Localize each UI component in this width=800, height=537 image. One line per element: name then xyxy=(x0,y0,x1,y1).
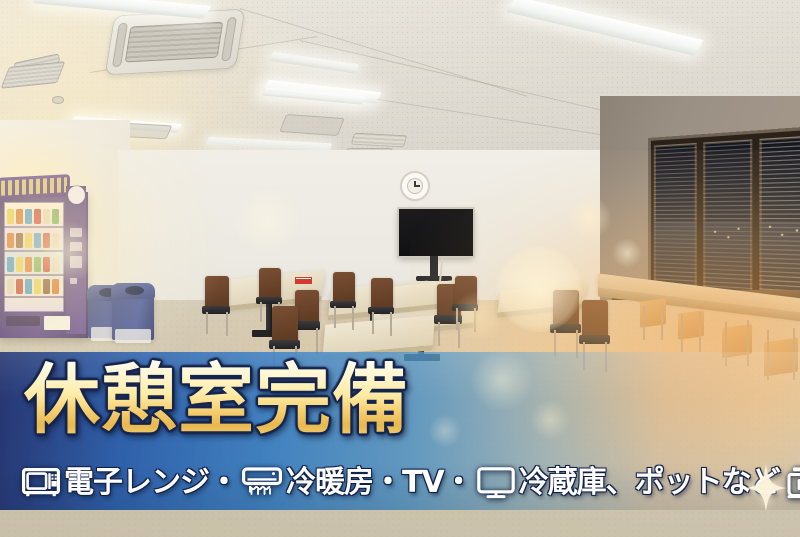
chair-back xyxy=(582,300,608,336)
ceiling-smoke-detector xyxy=(52,96,64,104)
dining-chair xyxy=(455,276,477,322)
drink-item xyxy=(16,279,23,294)
vending-machine-header-sign xyxy=(0,174,70,200)
wall-clock xyxy=(402,173,428,199)
chair-leg xyxy=(206,312,208,334)
vending-shelf xyxy=(4,274,64,276)
vending-shelf xyxy=(4,226,64,228)
dining-chair xyxy=(333,272,355,320)
dining-chair xyxy=(371,278,393,326)
vending-machine-label xyxy=(44,316,70,330)
drink-item xyxy=(7,279,14,294)
coin-slot xyxy=(70,278,77,284)
stool-leg xyxy=(699,312,701,352)
drink-item xyxy=(25,279,32,294)
trash-bin-opening xyxy=(125,286,144,295)
air-conditioner-icon xyxy=(242,467,282,499)
electric-kettle-icon xyxy=(784,466,800,500)
stool-leg xyxy=(661,304,663,340)
drink-item xyxy=(7,209,14,224)
sparkle-icon xyxy=(746,464,786,510)
chair-back xyxy=(553,290,579,325)
trash-bin-liner xyxy=(115,329,151,343)
ceiling-ac-cassette xyxy=(105,9,246,76)
dining-chair xyxy=(205,276,229,326)
window-pane xyxy=(654,143,697,293)
drink-item xyxy=(52,233,59,248)
wall-mounted-tv xyxy=(399,209,473,256)
amenity-fridge-pot-label: 冷蔵庫、ポットなど xyxy=(519,466,780,500)
drink-item xyxy=(25,257,32,272)
chair-back xyxy=(295,290,319,322)
stool-leg xyxy=(643,306,645,340)
chair-back xyxy=(205,276,229,307)
clock-hand-minute xyxy=(414,185,420,187)
dining-chair xyxy=(553,290,579,346)
vending-shelf xyxy=(4,296,64,298)
chair-leg xyxy=(334,306,336,328)
chair-leg xyxy=(316,328,318,354)
chair-back xyxy=(259,268,281,298)
drink-item xyxy=(43,279,50,294)
stool-leg xyxy=(681,314,683,352)
tv-stand-neck xyxy=(430,256,438,278)
window-pane xyxy=(703,139,752,296)
chair-back xyxy=(333,272,355,302)
banner-subtitle: 電子レンジ・ 冷暖房・TV・ xyxy=(22,462,792,504)
vending-machine xyxy=(0,192,88,338)
chair-leg xyxy=(260,302,262,322)
television-icon xyxy=(477,467,515,499)
drink-item xyxy=(7,233,14,248)
city-view xyxy=(703,221,752,275)
drink-item xyxy=(25,233,32,248)
ac-cassette-vent xyxy=(221,17,237,61)
microwave-icon xyxy=(22,468,60,498)
drink-item xyxy=(25,209,32,224)
drink-item xyxy=(34,279,41,294)
chair-back xyxy=(371,278,393,308)
vending-machine-display xyxy=(4,202,64,312)
screenshot-root: 休憩室完備 電子レンジ・ xyxy=(0,0,800,537)
chair-leg xyxy=(438,322,440,346)
chair-leg xyxy=(390,312,392,336)
chair-leg xyxy=(458,322,460,348)
drink-item xyxy=(43,257,50,272)
drink-item xyxy=(34,257,41,272)
chair-leg xyxy=(372,312,374,334)
promo-banner: 休憩室完備 電子レンジ・ xyxy=(0,352,800,510)
amenity-microwave-label: 電子レンジ・ xyxy=(64,466,238,500)
chair-back xyxy=(455,276,477,305)
vending-machine-button xyxy=(70,242,82,251)
city-light xyxy=(737,227,739,229)
dining-chair xyxy=(295,290,319,342)
vending-shelf xyxy=(4,250,64,252)
vending-machine-pickup-tray xyxy=(6,316,40,326)
drink-item xyxy=(16,209,23,224)
drink-item xyxy=(16,257,23,272)
city-view xyxy=(654,221,697,272)
drink-item xyxy=(43,209,50,224)
chair-leg xyxy=(456,308,458,330)
table-sign xyxy=(295,277,312,284)
trash-bin xyxy=(112,290,154,340)
drink-item xyxy=(34,209,41,224)
chair-leg xyxy=(474,308,476,332)
ac-cassette-grille xyxy=(125,22,224,63)
amenity-aircon-tv-label: 冷暖房・TV・ xyxy=(286,466,473,500)
dining-chair xyxy=(582,300,608,358)
drink-item xyxy=(52,257,59,272)
banner-title: 休憩室完備 xyxy=(24,358,409,442)
vending-machine-sign-text xyxy=(1,177,67,195)
drink-item xyxy=(7,257,14,272)
vending-machine-button xyxy=(70,256,82,268)
window-pane xyxy=(759,135,800,300)
drink-item xyxy=(16,233,23,248)
chair-leg xyxy=(226,312,228,336)
city-light xyxy=(714,230,716,232)
vending-machine-button xyxy=(70,228,82,237)
drink-item xyxy=(52,279,59,294)
drink-item xyxy=(43,233,50,248)
drink-item xyxy=(34,233,41,248)
counter-stool xyxy=(678,312,704,352)
chair-leg xyxy=(352,306,354,330)
vending-machine-logo xyxy=(68,186,85,204)
counter-stool xyxy=(640,300,666,340)
chair-back xyxy=(272,306,298,341)
drink-item xyxy=(52,209,59,224)
city-view xyxy=(759,221,800,277)
